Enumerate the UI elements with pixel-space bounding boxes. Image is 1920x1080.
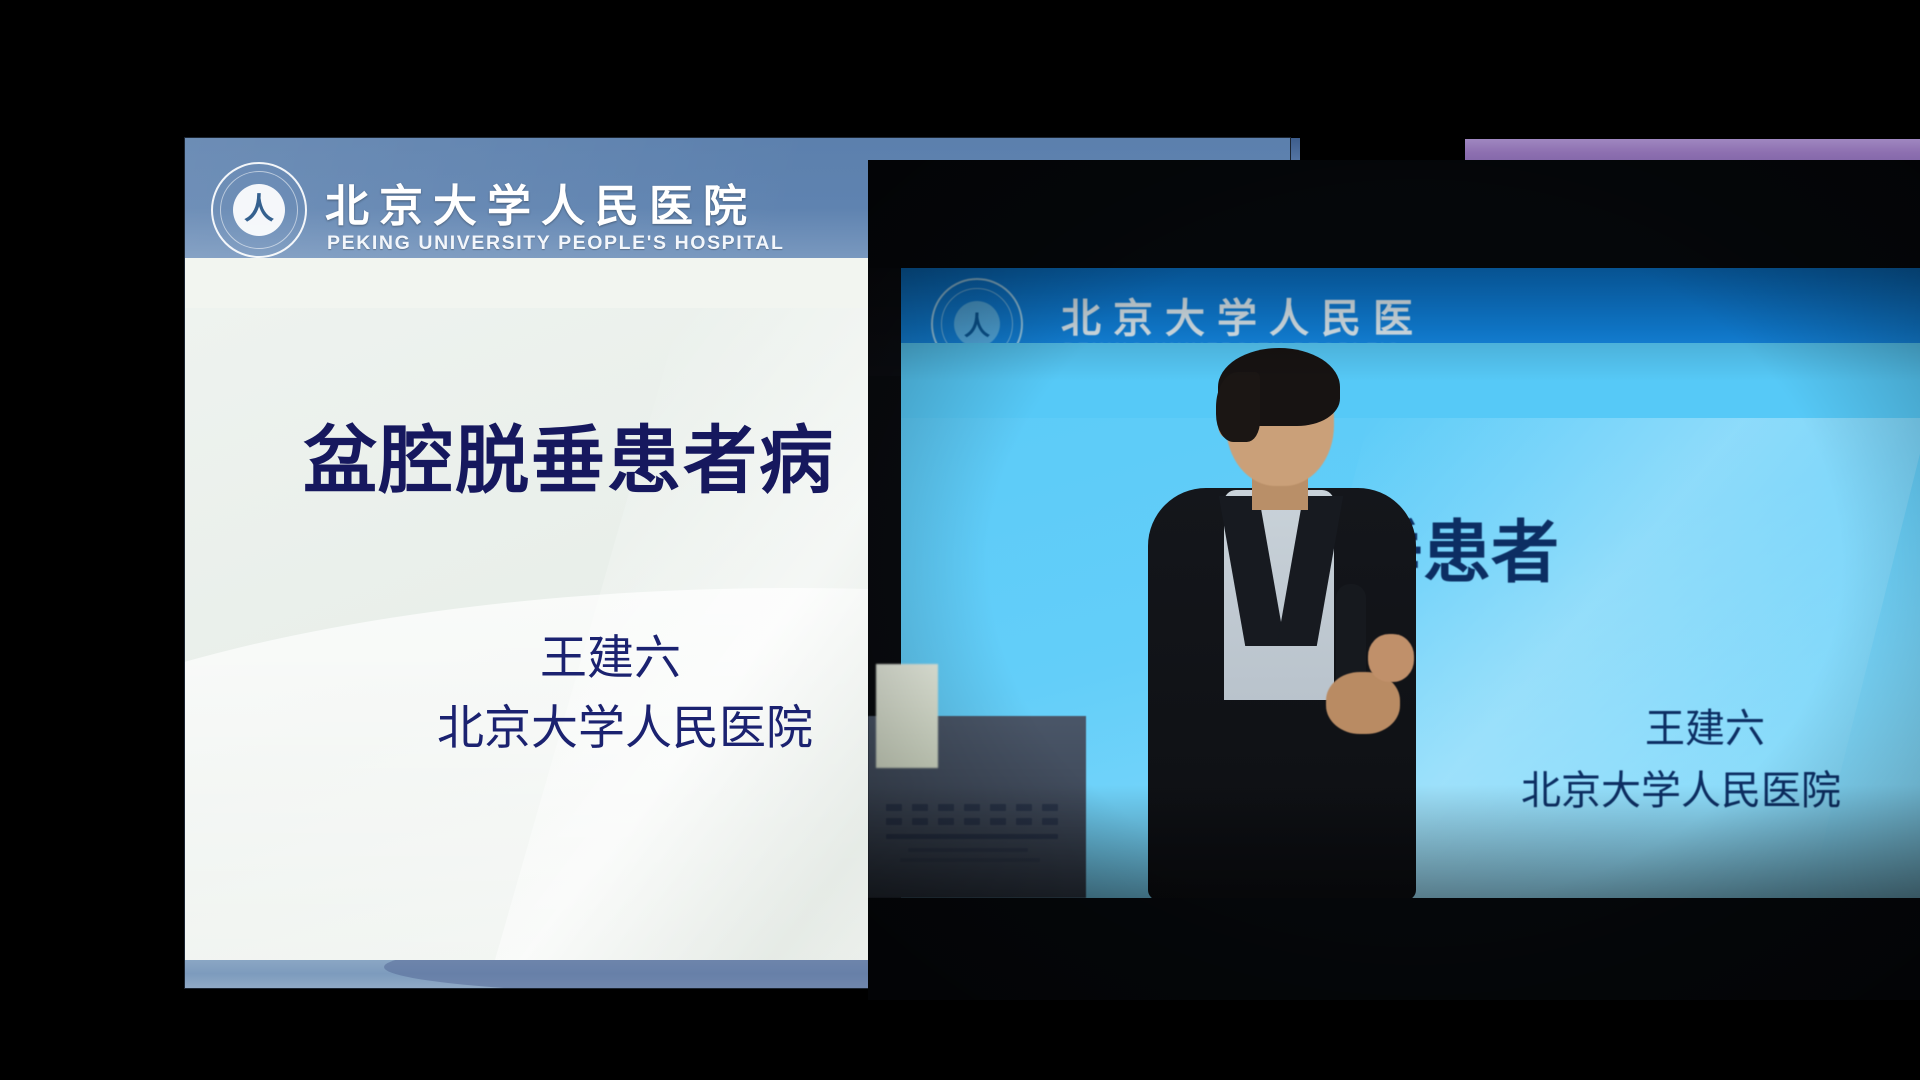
letterbox-bottom [868, 898, 1920, 1000]
podium-printed-text [886, 804, 1062, 868]
speaker-hand-right [1368, 634, 1414, 682]
projected-seal-glyph: 人 [964, 306, 990, 343]
projected-seal-inner: 人 [954, 301, 1000, 347]
projected-hospital-name-cn: 北京大学人民医 [1061, 286, 1425, 344]
hospital-name-en: PEKING UNIVERSITY PEOPLE'S HOSPITAL [327, 232, 785, 255]
screen-root: 人 北京大学人民医院 PEKING UNIVERSITY PEOPLE'S HO… [0, 0, 1920, 1080]
seal-glyph: 人 [244, 195, 274, 225]
podium [868, 716, 1086, 898]
hospital-name-cn: 北京大学人民医院 [325, 170, 757, 234]
letterbox-top [868, 160, 1920, 268]
projected-presenter-name: 王建六 [1645, 696, 1765, 754]
projected-presenter-affiliation: 北京大学人民医院 [1521, 758, 1841, 816]
speaker-hair-side [1216, 372, 1260, 442]
slide-title: 盆腔脱垂患者病 [303, 424, 835, 498]
speaker-figure [1140, 354, 1440, 898]
seal-inner: 人 [233, 184, 285, 236]
pku-peoples-hospital-seal-icon: 人 [211, 162, 307, 258]
slide-presenter-affiliation: 北京大学人民医院 [437, 700, 813, 759]
video-overlay-panel[interactable]: 人 北京大学人民医 PEKING UNIVERSITY PEOPLE'S 盆腔脱… [868, 160, 1920, 1000]
slide-presenter-name: 王建六 [540, 630, 681, 689]
podium-paper-sheet [876, 664, 938, 768]
conference-hall-scene: 人 北京大学人民医 PEKING UNIVERSITY PEOPLE'S 盆腔脱… [868, 268, 1920, 898]
